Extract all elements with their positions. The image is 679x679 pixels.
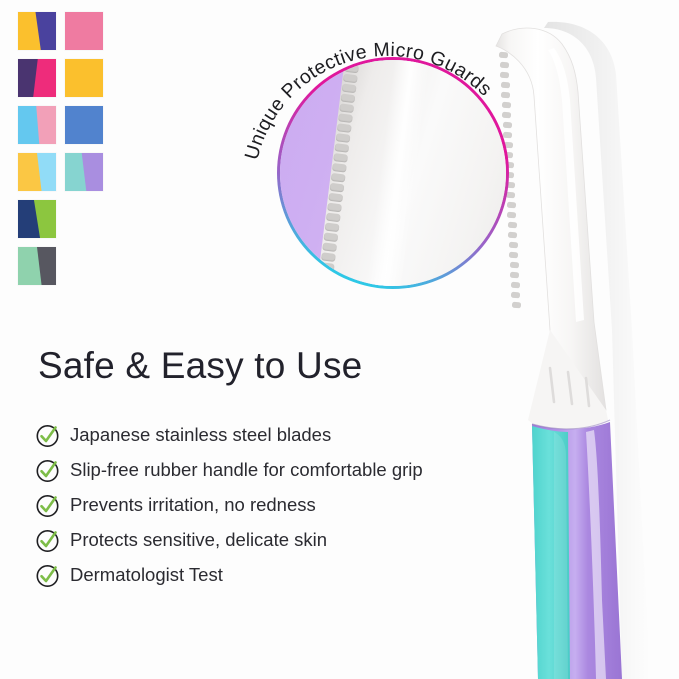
swatch-yellow-purple (18, 12, 56, 50)
feature-list: Japanese stainless steel blades Slip-fre… (35, 418, 465, 593)
swatch-half-left (65, 59, 103, 97)
list-item: Protects sensitive, delicate skin (35, 523, 465, 558)
list-item-label: Dermatologist Test (70, 566, 223, 585)
guard-tooth (317, 282, 332, 286)
list-item-label: Protects sensitive, delicate skin (70, 531, 327, 550)
guard-tooth (332, 163, 347, 173)
guard-tooth (336, 133, 351, 143)
guard-tooth (339, 103, 354, 113)
guard-tooth (319, 272, 334, 282)
list-item-label: Prevents irritation, no redness (70, 496, 316, 515)
swatch-row (18, 153, 102, 191)
swatch-mint-charcoal (18, 247, 56, 285)
product-feature-image: Unique Protective Micro Guards Safe & Ea… (0, 0, 679, 679)
check-circle-icon (35, 493, 60, 518)
check-circle-icon (35, 528, 60, 553)
guard-tooth (322, 242, 337, 252)
swatch-yellow-skyblue (18, 153, 56, 191)
guard-tooth (327, 203, 342, 213)
swatch-pink (65, 12, 103, 50)
guard-tooth (330, 183, 345, 193)
guard-tooth (323, 232, 338, 242)
swatch-half-left (65, 106, 103, 144)
swatch-half-left (65, 12, 103, 50)
page-title: Safe & Easy to Use (38, 345, 362, 387)
guard-tooth (333, 153, 348, 163)
guard-tooth (326, 212, 341, 222)
list-item: Dermatologist Test (35, 558, 465, 593)
swatch-blue (65, 106, 103, 144)
guard-tooth (334, 143, 349, 153)
guard-tooth (321, 252, 336, 262)
swatch-yellow (65, 59, 103, 97)
swatch-skyblue-pink (18, 106, 56, 144)
guard-tooth (325, 222, 340, 232)
guard-tooth (320, 262, 335, 272)
check-circle-icon (35, 563, 60, 588)
list-item: Japanese stainless steel blades (35, 418, 465, 453)
check-circle-icon (35, 458, 60, 483)
guard-tooth (344, 64, 359, 74)
list-item: Prevents irritation, no redness (35, 488, 465, 523)
guard-tooth (341, 93, 356, 103)
magnifier-inner (280, 60, 506, 286)
guard-tooth (345, 60, 360, 63)
swatch-deep-purple-magenta (18, 59, 56, 97)
swatch-row (18, 247, 102, 285)
swatch-teal-lavender (65, 153, 103, 191)
guard-tooth (337, 123, 352, 133)
swatch-navy-green (18, 200, 56, 238)
guard-tooth (331, 173, 346, 183)
grip-highlight (554, 432, 568, 679)
guard-tooth (338, 113, 353, 123)
list-item: Slip-free rubber handle for comfortable … (35, 453, 465, 488)
list-item-label: Slip-free rubber handle for comfortable … (70, 461, 423, 480)
magnifier-circle (277, 57, 509, 289)
swatch-row (18, 12, 102, 50)
guard-tooth (343, 73, 358, 83)
guard-tooth (328, 193, 343, 203)
swatch-row (18, 106, 102, 144)
color-swatch-grid (18, 12, 102, 294)
guard-tooth (342, 83, 357, 93)
swatch-row (18, 200, 102, 238)
check-circle-icon (35, 423, 60, 448)
swatch-row (18, 59, 102, 97)
list-item-label: Japanese stainless steel blades (70, 426, 331, 445)
